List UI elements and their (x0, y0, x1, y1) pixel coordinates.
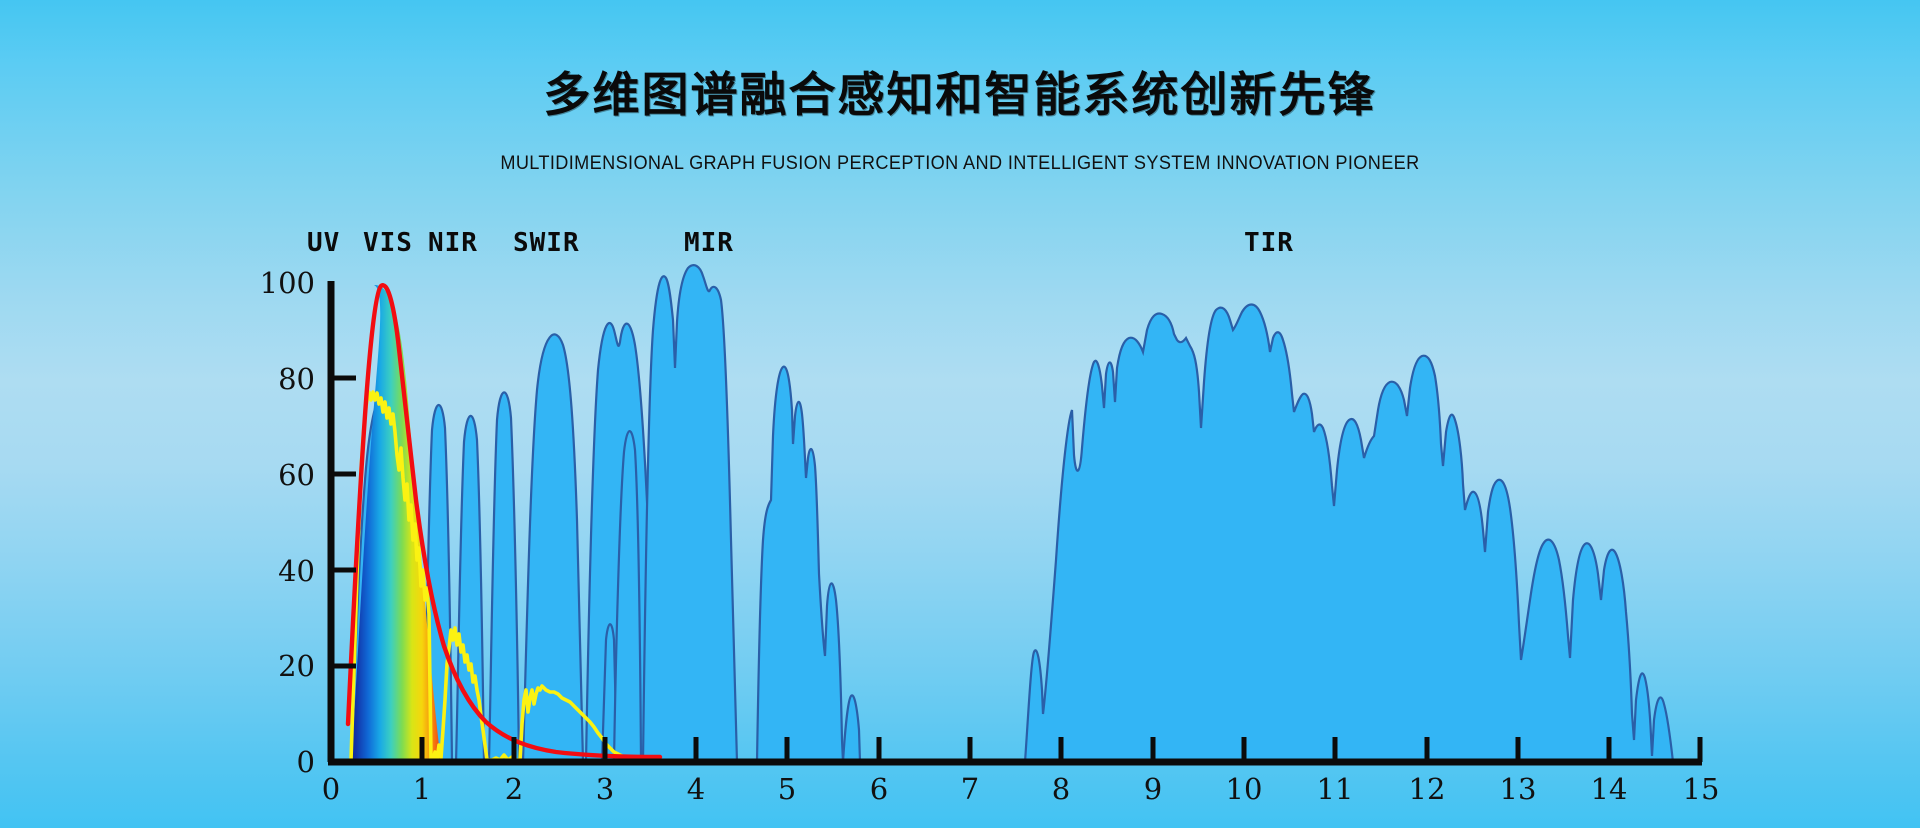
transmission-window-tir (1025, 305, 1673, 763)
transmission-window-nir-c (489, 392, 519, 762)
transmission-window-mir-e (843, 695, 860, 762)
chart-page: 多维图谱融合感知和智能系统创新先锋 MULTIDIMENSIONAL GRAPH… (0, 0, 1920, 828)
transmission-window-mir-d (757, 367, 843, 762)
transmission-windows (351, 265, 1673, 762)
spectral-chart-svg (0, 0, 1920, 828)
transmission-window-mir-plateau (643, 265, 737, 762)
